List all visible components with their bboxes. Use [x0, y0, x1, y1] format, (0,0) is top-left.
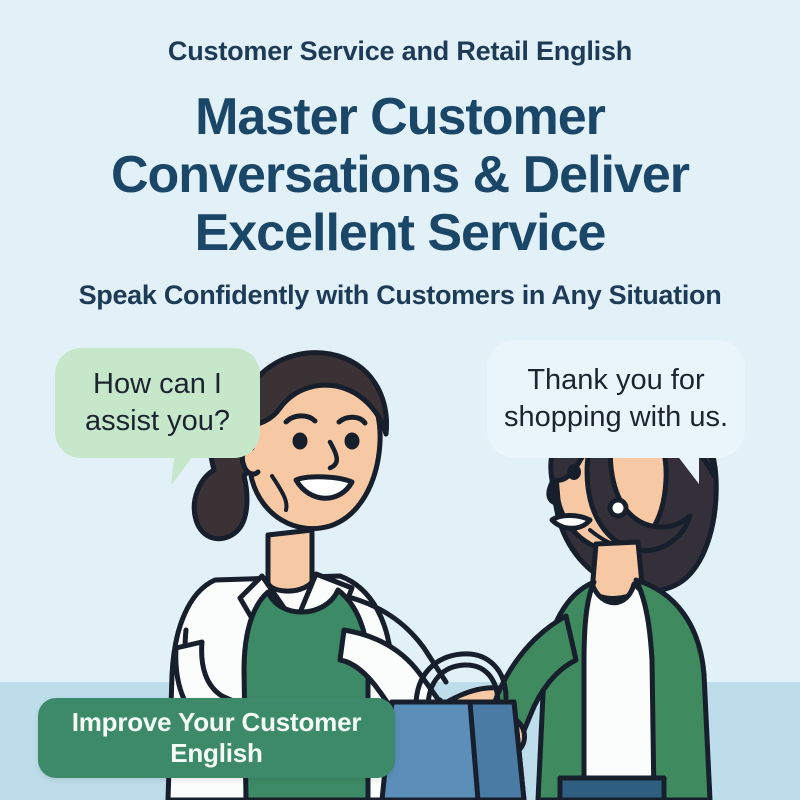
speech-bubble-tail-icon — [665, 450, 699, 484]
speech-bubble-tail-icon — [171, 451, 203, 485]
speech-bubble-staff-text: How can I assist you? — [85, 366, 230, 440]
cta-badge[interactable]: Improve Your Customer English — [38, 698, 395, 778]
poster-canvas: Customer Service and Retail English Mast… — [0, 0, 800, 800]
headline-line-3: Excellent Service — [0, 204, 800, 262]
cta-line-2: English — [72, 738, 362, 769]
staff-line-2: assist you? — [85, 403, 230, 440]
subtitle-text: Speak Confidently with Customers in Any … — [0, 280, 800, 311]
cta-badge-text: Improve Your Customer English — [54, 707, 380, 768]
staff-line-1: How can I — [85, 366, 230, 403]
eyebrow-text: Customer Service and Retail English — [0, 36, 800, 67]
speech-bubble-staff: How can I assist you? — [55, 348, 260, 458]
cta-line-1: Improve Your Customer — [72, 707, 362, 738]
page-title: Master Customer Conversations & Deliver … — [0, 88, 800, 263]
customer-line-2: shopping with us. — [504, 399, 728, 436]
headline-line-2: Conversations & Deliver — [0, 146, 800, 204]
speech-bubble-customer: Thank you for shopping with us. — [487, 340, 745, 458]
headline-line-1: Master Customer — [0, 88, 800, 146]
customer-line-1: Thank you for — [504, 362, 728, 399]
speech-bubble-customer-text: Thank you for shopping with us. — [504, 362, 728, 436]
